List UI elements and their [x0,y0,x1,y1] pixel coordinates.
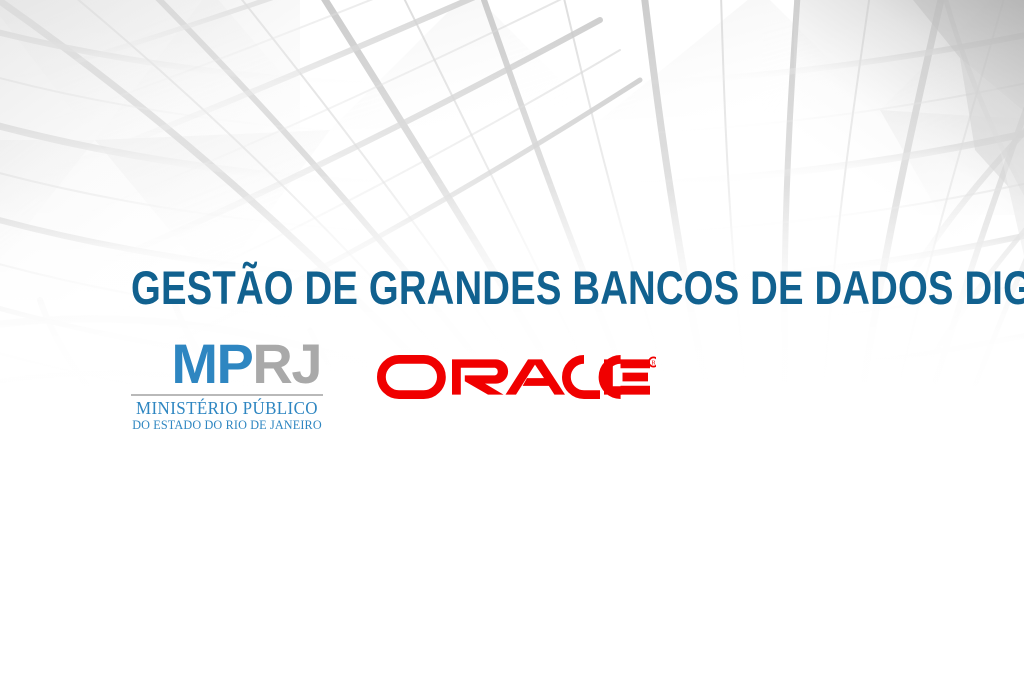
slide-title: GESTÃO DE GRANDES BANCOS DE DADOS DIGITA… [131,264,1024,312]
mprj-wordmark: MPRJ [131,338,323,390]
svg-text:R: R [651,360,656,367]
mprj-wordmark-rj: RJ [252,332,321,395]
slide-content: GESTÃO DE GRANDES BANCOS DE DADOS DIGITA… [0,0,1024,682]
mprj-wordmark-mp: MP [171,332,252,395]
oracle-logo: R ORACLE [376,354,656,400]
oracle-wordmark-final-icon: R [376,354,656,400]
mprj-subtitle-line2: DO ESTADO DO RIO DE JANEIRO [131,418,323,432]
logo-row: MPRJ MINISTÉRIO PÚBLICO DO ESTADO DO RIO… [131,338,656,432]
mprj-subtitle-line1: MINISTÉRIO PÚBLICO [134,399,320,418]
mprj-logo: MPRJ MINISTÉRIO PÚBLICO DO ESTADO DO RIO… [131,338,323,432]
presentation-slide: GESTÃO DE GRANDES BANCOS DE DADOS DIGITA… [0,0,1024,682]
